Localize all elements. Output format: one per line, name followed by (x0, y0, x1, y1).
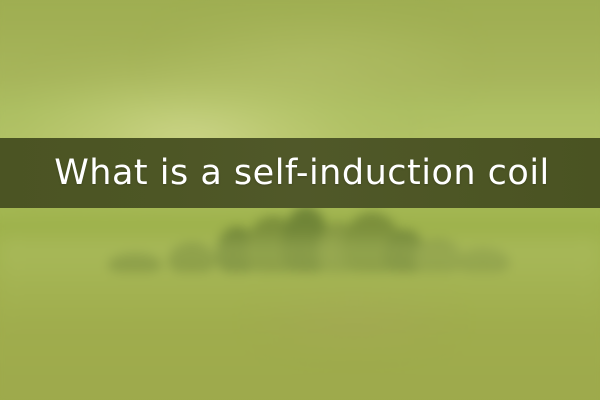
sky-haze-secondary (156, 12, 468, 116)
title-banner-strip: What is a self-induction coil (0, 138, 600, 208)
page-title: What is a self-induction coil (0, 156, 600, 191)
field-haze (0, 240, 600, 328)
hero-banner: What is a self-induction coil (0, 0, 600, 400)
